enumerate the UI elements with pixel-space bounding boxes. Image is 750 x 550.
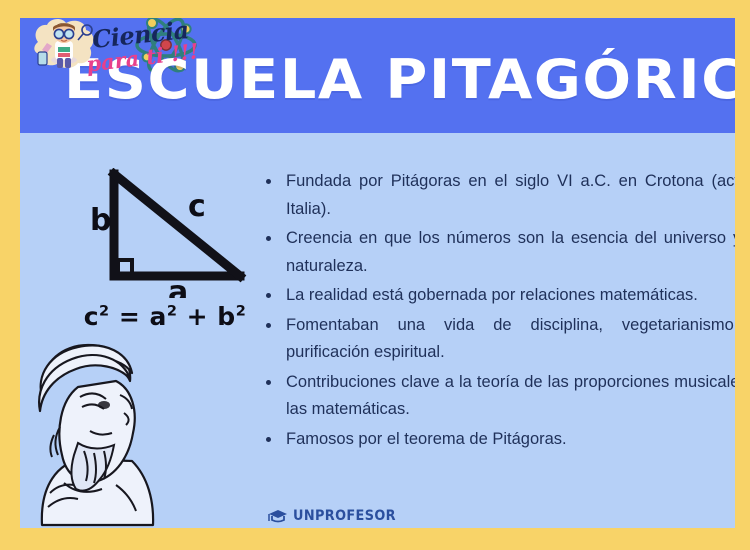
list-item: Creencia en que los números son la esenc…: [262, 225, 750, 280]
brand-logo: Ciencia para ti !!!: [28, 12, 213, 74]
frame-top-border: [0, 0, 750, 18]
footer-brand-name: UNPROFESOR: [293, 508, 396, 524]
list-item: Famosos por el teorema de Pitágoras.: [262, 426, 750, 454]
frame-bottom-border: [0, 528, 750, 550]
svg-text:c: c: [188, 189, 206, 224]
svg-text:a: a: [168, 275, 188, 298]
list-item: Fundada por Pitágoras en el siglo VI a.C…: [262, 168, 750, 223]
facts-list: Fundada por Pitágoras en el siglo VI a.C…: [262, 168, 750, 455]
list-item: Fomentaban una vida de disciplina, veget…: [262, 312, 750, 367]
svg-text:b: b: [90, 203, 111, 238]
pythagorean-formula: c2 = a2 + b2: [60, 302, 270, 331]
right-triangle-icon: b c a: [72, 168, 252, 298]
frame-right-border: [735, 0, 750, 550]
list-item: La realidad está gobernada por relacione…: [262, 282, 750, 310]
graduation-cap-icon: [268, 509, 288, 523]
list-item: Contribuciones clave a la teoría de las …: [262, 369, 750, 424]
pythagoras-portrait-icon: [20, 335, 190, 528]
footer-brand: UNPROFESOR: [268, 508, 405, 524]
infographic-poster: Ciencia para ti !!! ESCUELA PITAGÓRICA b…: [0, 0, 750, 550]
frame-left-border: [0, 0, 20, 550]
